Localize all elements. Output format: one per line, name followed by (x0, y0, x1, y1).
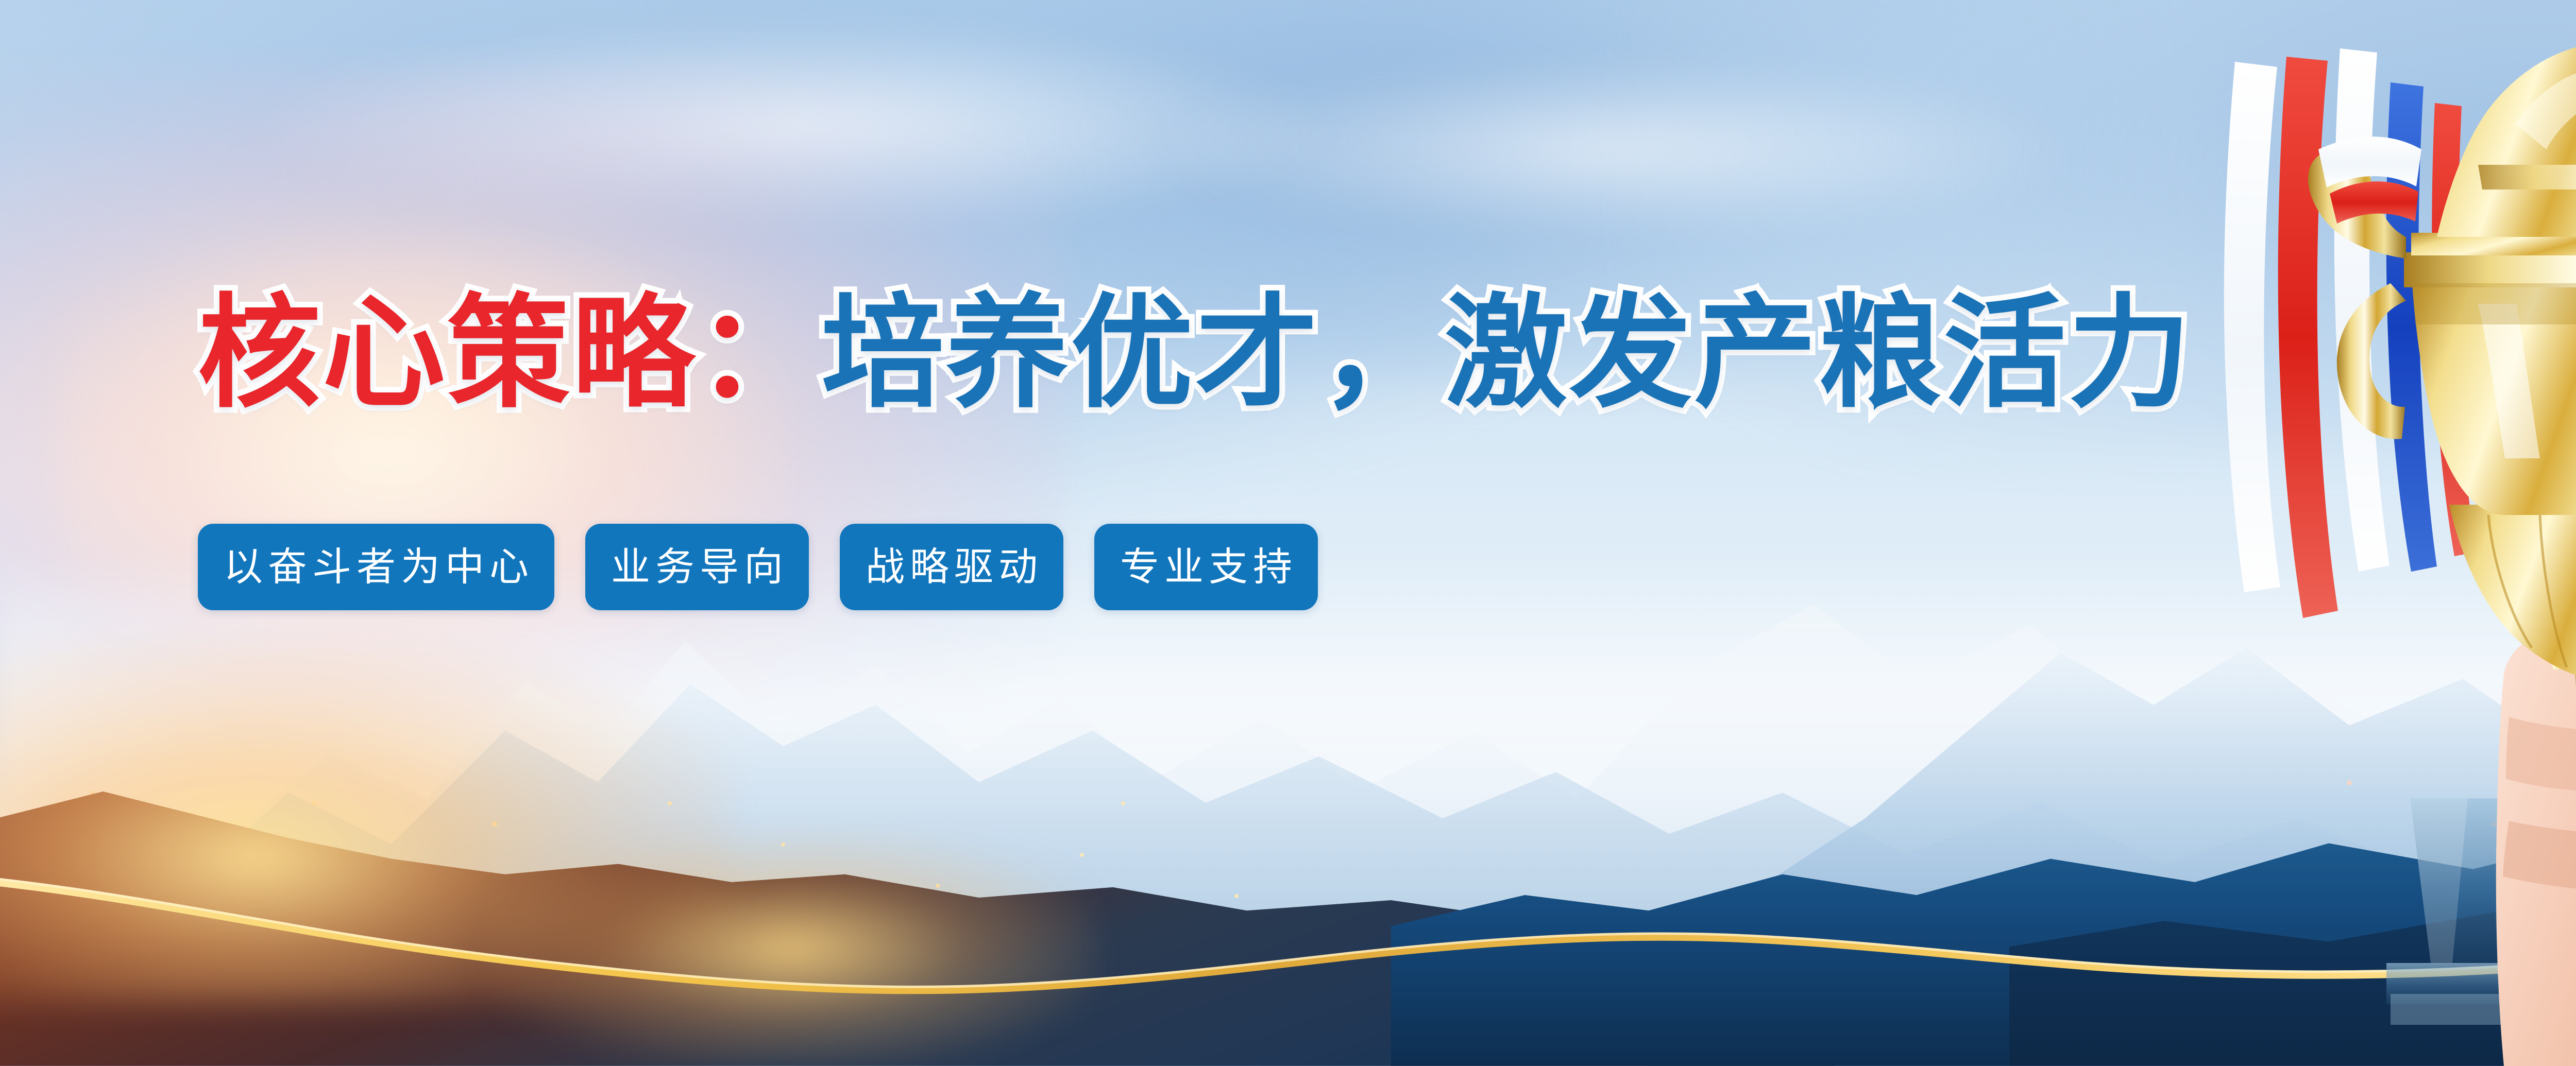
mountain-range-near (0, 703, 2576, 1066)
promotional-banner: 核心策略：培养优才，激发产粮活力 以奋斗者为中心 业务导向 战略驱动 专业支持 (0, 0, 2576, 1066)
cloud-wisp-center (1157, 64, 2070, 234)
tag-pill-business-oriented[interactable]: 业务导向 (585, 524, 809, 610)
page-title: 核心策略：培养优才，激发产粮活力 (198, 293, 2193, 415)
tag-pill-professional-support[interactable]: 专业支持 (1094, 524, 1318, 610)
headline-red-segment: 核心策略： (198, 282, 821, 425)
tag-pill-row: 以奋斗者为中心 业务导向 战略驱动 专业支持 (198, 524, 1318, 610)
tag-pill-worker-centric[interactable]: 以奋斗者为中心 (198, 524, 554, 610)
headline-blue-segment: 培养优才，激发产粮活力 (821, 282, 2193, 425)
sunrise-glow-secondary (487, 832, 1096, 1066)
tag-pill-strategy-driven[interactable]: 战略驱动 (840, 524, 1063, 610)
